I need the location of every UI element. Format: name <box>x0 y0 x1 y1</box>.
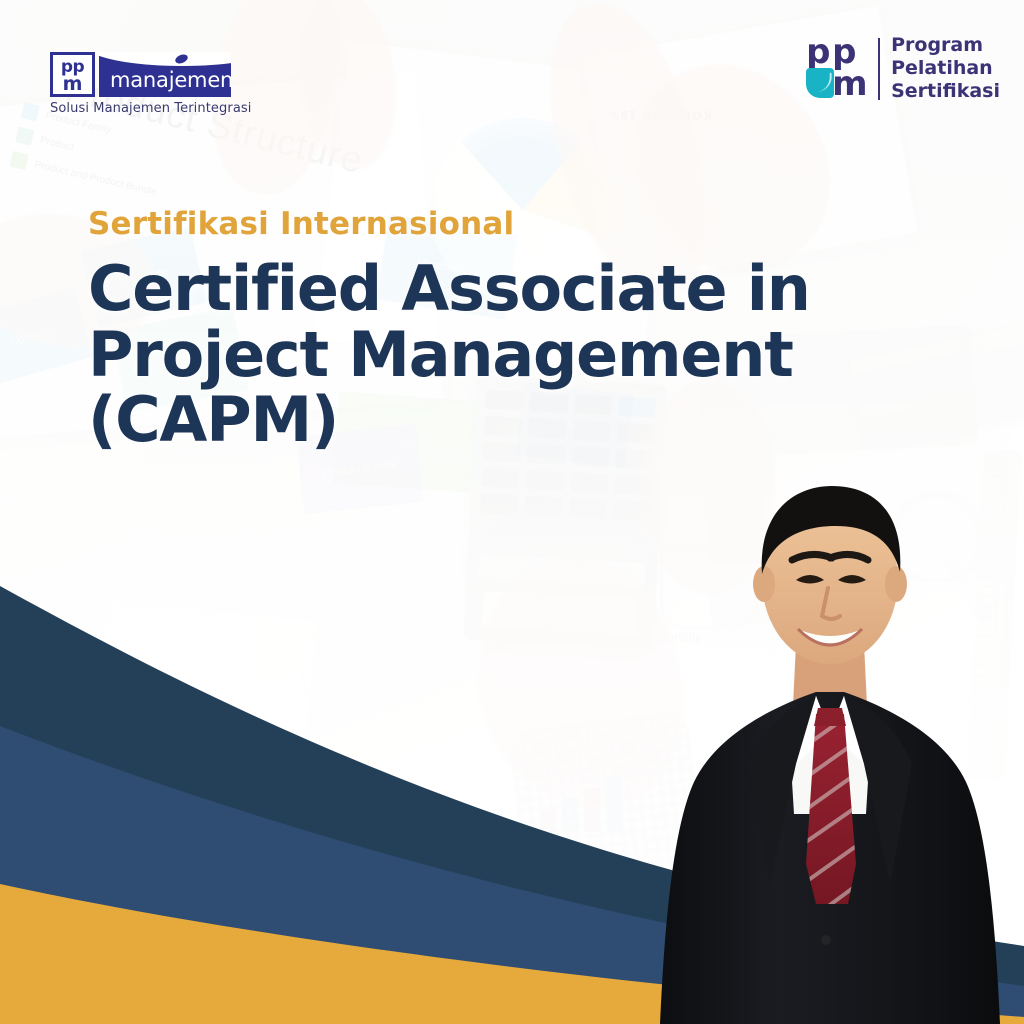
presenter-suit-button <box>821 935 831 945</box>
monogram-m: m <box>832 67 867 101</box>
ppm-monogram-m: m <box>53 75 92 94</box>
presenter-ear-left <box>753 566 775 602</box>
ppm-leaf-monogram: p p m <box>806 35 868 103</box>
headline-line-3: (CAPM) <box>88 387 808 453</box>
presenter-ear-right <box>885 566 907 602</box>
manajemen-wordmark-bar: manajemen <box>99 52 231 97</box>
headline-line-1: Certified Associate in <box>88 256 808 322</box>
ppm-manajemen-logo[interactable]: pp m manajemen Solusi Manajemen Terinteg… <box>50 52 251 116</box>
program-pelatihan-sertifikasi-logo[interactable]: p p m Program Pelatihan Sertifikasi <box>806 34 1000 104</box>
poster-canvas: Product Structure KOMATSU 18% Sales Mont… <box>0 0 1024 1024</box>
logo-divider <box>878 38 880 100</box>
headline-block: Sertifikasi Internasional Certified Asso… <box>88 206 808 453</box>
logo-tagline: Solusi Manajemen Terintegrasi <box>50 101 251 116</box>
monogram-p1: p <box>806 35 830 69</box>
leaf-icon <box>806 68 834 98</box>
headline-line-2: Project Management <box>88 322 808 388</box>
logo-right-line-3: Sertifikasi <box>891 80 1000 103</box>
logo-right-line-1: Program <box>891 34 1000 57</box>
manajemen-wordmark: manajemen <box>110 68 231 92</box>
swoosh-shape <box>99 52 231 66</box>
ppm-monogram-box: pp m <box>50 52 95 97</box>
presenter-photo <box>620 464 1024 1024</box>
eyebrow-text: Sertifikasi Internasional <box>88 206 808 242</box>
logo-right-line-2: Pelatihan <box>891 57 1000 80</box>
logo-right-text: Program Pelatihan Sertifikasi <box>891 34 1000 104</box>
page-title: Certified Associate in Project Managemen… <box>88 256 808 453</box>
